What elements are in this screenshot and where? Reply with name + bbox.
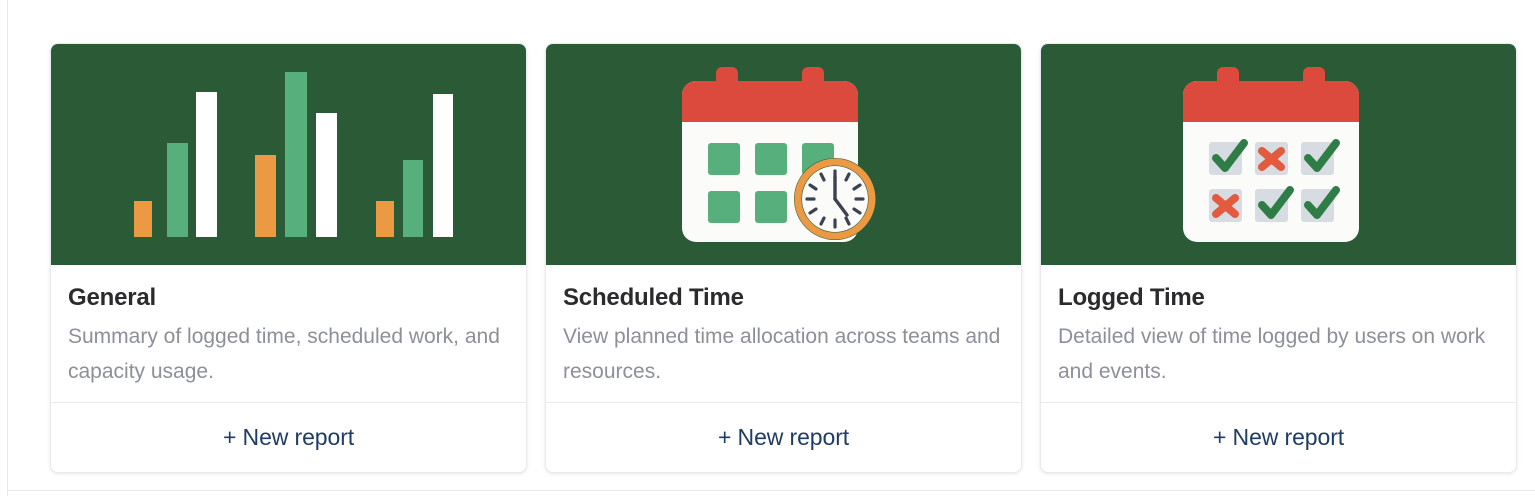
card-hero-logged-time bbox=[1041, 44, 1516, 265]
report-card-scheduled-time[interactable]: Scheduled Time View planned time allocat… bbox=[545, 43, 1022, 473]
new-report-button[interactable]: + New report bbox=[1213, 424, 1344, 451]
card-body-scheduled-time: Scheduled Time View planned time allocat… bbox=[546, 265, 1021, 402]
calendar-check-svg bbox=[1174, 67, 1384, 242]
card-description: Detailed view of time logged by users on… bbox=[1058, 319, 1499, 389]
bar-chart-svg bbox=[122, 72, 462, 237]
calendar-clock-icon bbox=[679, 67, 889, 242]
new-report-button[interactable]: + New report bbox=[718, 424, 849, 451]
card-title: Logged Time bbox=[1058, 283, 1499, 313]
calendar-clock-svg bbox=[679, 67, 889, 242]
reports-gallery-page: General Summary of logged time, schedule… bbox=[0, 0, 1535, 496]
report-card-logged-time[interactable]: Logged Time Detailed view of time logged… bbox=[1040, 43, 1517, 473]
card-title: General bbox=[68, 283, 509, 313]
report-card-list: General Summary of logged time, schedule… bbox=[50, 43, 1517, 473]
card-title: Scheduled Time bbox=[563, 283, 1004, 313]
card-footer-scheduled-time: + New report bbox=[546, 402, 1021, 472]
panel-left-divider bbox=[7, 0, 8, 496]
card-hero-general bbox=[51, 44, 526, 265]
card-body-general: General Summary of logged time, schedule… bbox=[51, 265, 526, 402]
bar-chart-icon bbox=[122, 72, 462, 237]
card-description: View planned time allocation across team… bbox=[563, 319, 1004, 389]
card-hero-scheduled-time bbox=[546, 44, 1021, 265]
card-footer-general: + New report bbox=[51, 402, 526, 472]
calendar-check-icon bbox=[1174, 67, 1384, 242]
new-report-button[interactable]: + New report bbox=[223, 424, 354, 451]
card-body-logged-time: Logged Time Detailed view of time logged… bbox=[1041, 265, 1516, 402]
card-description: Summary of logged time, scheduled work, … bbox=[68, 319, 509, 389]
card-footer-logged-time: + New report bbox=[1041, 402, 1516, 472]
report-card-general[interactable]: General Summary of logged time, schedule… bbox=[50, 43, 527, 473]
panel-bottom-divider bbox=[8, 490, 1535, 491]
